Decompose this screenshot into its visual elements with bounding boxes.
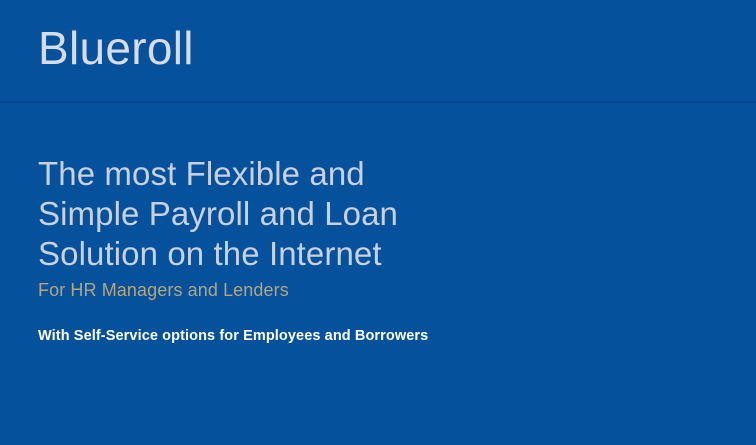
hero-subtext: With Self-Service options for Employees … [38, 326, 678, 346]
hero-tagline: For HR Managers and Lenders [38, 278, 678, 302]
brand-logo[interactable]: Blueroll [38, 20, 194, 76]
hero-content: The most Flexible and Simple Payroll and… [38, 154, 678, 346]
hero-section: The most Flexible and Simple Payroll and… [0, 103, 756, 445]
hero-headline: The most Flexible and Simple Payroll and… [38, 154, 438, 274]
site-header: Blueroll [0, 0, 756, 103]
landing-page: Blueroll The most Flexible and Simple Pa… [0, 0, 756, 445]
